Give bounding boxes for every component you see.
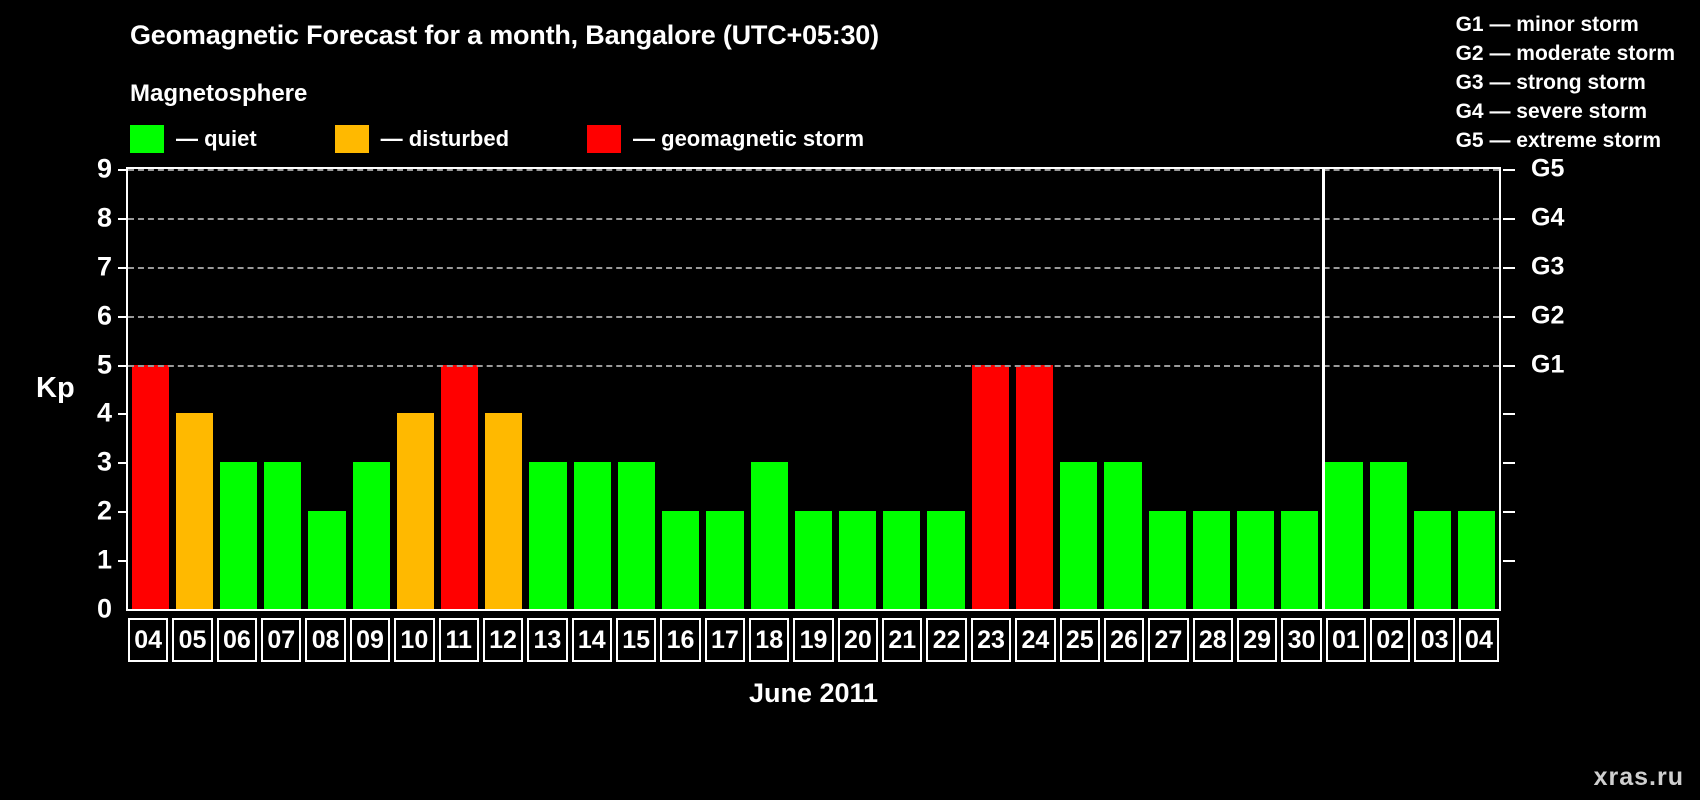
- bar[interactable]: [1060, 462, 1097, 609]
- bar-cell[interactable]: [1278, 169, 1322, 609]
- x-axis-date-label[interactable]: 11: [439, 618, 479, 662]
- x-axis-date-label[interactable]: 16: [660, 618, 700, 662]
- legend-entry: — quiet: [130, 124, 257, 154]
- bar[interactable]: [1325, 462, 1362, 609]
- bar[interactable]: [308, 511, 345, 609]
- bar-cell[interactable]: [1012, 169, 1056, 609]
- y-axis-tick-label: 6: [97, 300, 112, 331]
- bar-cell[interactable]: [1101, 169, 1145, 609]
- g-legend-line: G3 — strong storm: [1456, 68, 1675, 97]
- g-axis-tick-mark: [1503, 218, 1515, 220]
- x-axis-date-label[interactable]: 13: [527, 618, 567, 662]
- gridline: [128, 218, 1499, 220]
- bar[interactable]: [972, 365, 1009, 609]
- x-axis-date-label[interactable]: 08: [305, 618, 345, 662]
- bar-cell[interactable]: [703, 169, 747, 609]
- g-axis-tick-mark: [1503, 169, 1515, 171]
- bar[interactable]: [441, 365, 478, 609]
- x-axis-date-label[interactable]: 12: [483, 618, 523, 662]
- bar-cell[interactable]: [880, 169, 924, 609]
- x-axis-date-label[interactable]: 07: [261, 618, 301, 662]
- g-scale-legend: G1 — minor stormG2 — moderate stormG3 — …: [1456, 10, 1675, 155]
- bar[interactable]: [397, 413, 434, 609]
- legend-entry: — disturbed: [335, 124, 509, 154]
- x-axis-date-label[interactable]: 10: [394, 618, 434, 662]
- bar[interactable]: [176, 413, 213, 609]
- bar[interactable]: [618, 462, 655, 609]
- x-axis-date-label[interactable]: 15: [616, 618, 656, 662]
- bar-cell[interactable]: [1233, 169, 1277, 609]
- bar-cell[interactable]: [1366, 169, 1410, 609]
- bar-cell[interactable]: [349, 169, 393, 609]
- x-axis-date-label[interactable]: 23: [971, 618, 1011, 662]
- x-axis-date-label[interactable]: 05: [172, 618, 212, 662]
- g-axis-tick-mark: [1503, 267, 1515, 269]
- x-axis-date-label[interactable]: 04: [128, 618, 168, 662]
- x-axis-date-label[interactable]: 18: [749, 618, 789, 662]
- bar-cell[interactable]: [1057, 169, 1101, 609]
- legend-color-swatch: [130, 125, 164, 153]
- bar[interactable]: [883, 511, 920, 609]
- bar[interactable]: [795, 511, 832, 609]
- bar-series: [128, 169, 1499, 609]
- bar-cell[interactable]: [305, 169, 349, 609]
- bar-cell[interactable]: [482, 169, 526, 609]
- bar-cell[interactable]: [570, 169, 614, 609]
- x-axis-date-label[interactable]: 26: [1104, 618, 1144, 662]
- bar-cell[interactable]: [836, 169, 880, 609]
- bar[interactable]: [220, 462, 257, 609]
- x-axis-date-label[interactable]: 30: [1281, 618, 1321, 662]
- gridline: [128, 316, 1499, 318]
- bar-cell[interactable]: [614, 169, 658, 609]
- bar-cell[interactable]: [526, 169, 570, 609]
- bar-cell[interactable]: [128, 169, 172, 609]
- bar[interactable]: [1149, 511, 1186, 609]
- bar-cell[interactable]: [747, 169, 791, 609]
- g-axis-tick-mark: [1503, 462, 1515, 464]
- y-axis-tick-label: 0: [97, 594, 112, 625]
- bar[interactable]: [1237, 511, 1274, 609]
- x-axis-date-label[interactable]: 20: [838, 618, 878, 662]
- gridline: [128, 267, 1499, 269]
- bar-cell[interactable]: [1410, 169, 1454, 609]
- gridline: [128, 169, 1499, 171]
- bar-cell[interactable]: [216, 169, 260, 609]
- magnetosphere-heading: Magnetosphere: [130, 80, 307, 108]
- gridline: [128, 365, 1499, 367]
- y-axis-tick-label: 3: [97, 447, 112, 478]
- x-axis-date-label[interactable]: 03: [1414, 618, 1454, 662]
- geomagnetic-forecast-chart: Geomagnetic Forecast for a month, Bangal…: [0, 0, 1700, 800]
- bar[interactable]: [485, 413, 522, 609]
- bar[interactable]: [751, 462, 788, 609]
- x-axis-date-label[interactable]: 29: [1237, 618, 1277, 662]
- g-axis-tick-mark: [1503, 365, 1515, 367]
- bar[interactable]: [1458, 511, 1495, 609]
- x-axis-date-label[interactable]: 17: [705, 618, 745, 662]
- bar-cell[interactable]: [438, 169, 482, 609]
- bar-cell[interactable]: [172, 169, 216, 609]
- bar[interactable]: [353, 462, 390, 609]
- legend-entry: — geomagnetic storm: [587, 124, 864, 154]
- g-legend-line: G1 — minor storm: [1456, 10, 1675, 39]
- y-axis-tick-label: 7: [97, 251, 112, 282]
- bar-cell[interactable]: [1455, 169, 1499, 609]
- g-axis-scale: G1G2G3G4G5: [1503, 167, 1583, 611]
- bar[interactable]: [264, 462, 301, 609]
- x-axis-date-label[interactable]: 28: [1193, 618, 1233, 662]
- plot-inner: [128, 169, 1499, 609]
- g-legend-line: G5 — extreme storm: [1456, 126, 1675, 155]
- x-axis-date-label[interactable]: 01: [1326, 618, 1366, 662]
- legend-color-swatch: [587, 125, 621, 153]
- bar[interactable]: [1193, 511, 1230, 609]
- bar[interactable]: [839, 511, 876, 609]
- g-axis-tick-label: G2: [1531, 301, 1564, 330]
- bar[interactable]: [706, 511, 743, 609]
- legend-label: — disturbed: [381, 126, 509, 152]
- g-axis-tick-mark: [1503, 316, 1515, 318]
- magnetosphere-legend: — quiet— disturbed— geomagnetic storm: [130, 124, 864, 154]
- plot-area: [126, 167, 1501, 611]
- month-divider-line: [1322, 167, 1325, 611]
- g-axis-tick-label: G1: [1531, 350, 1564, 379]
- y-axis-title: Kp: [36, 372, 75, 405]
- x-axis-date-label[interactable]: 21: [882, 618, 922, 662]
- legend-color-swatch: [335, 125, 369, 153]
- y-axis-tick-label: 1: [97, 545, 112, 576]
- x-axis-date-label[interactable]: 04: [1459, 618, 1499, 662]
- g-axis-tick-label: G3: [1531, 252, 1564, 281]
- bar[interactable]: [1016, 365, 1053, 609]
- bar[interactable]: [529, 462, 566, 609]
- x-axis-date-label[interactable]: 22: [926, 618, 966, 662]
- bar-cell[interactable]: [393, 169, 437, 609]
- g-axis-tick-label: G5: [1531, 155, 1564, 184]
- bar-cell[interactable]: [1322, 169, 1366, 609]
- x-axis-date-labels: 0405060708091011121314151617181920212223…: [126, 618, 1501, 662]
- x-axis-date-label[interactable]: 25: [1060, 618, 1100, 662]
- bar-cell[interactable]: [261, 169, 305, 609]
- bar-cell[interactable]: [968, 169, 1012, 609]
- y-axis-tick-label: 9: [97, 154, 112, 185]
- y-axis-tick-label: 8: [97, 202, 112, 233]
- bar[interactable]: [1281, 511, 1318, 609]
- x-axis-date-label[interactable]: 19: [793, 618, 833, 662]
- y-axis-tick-label: 5: [97, 349, 112, 380]
- bar[interactable]: [1104, 462, 1141, 609]
- g-axis-tick-mark: [1503, 560, 1515, 562]
- g-axis-tick-label: G4: [1531, 203, 1564, 232]
- x-axis-date-label[interactable]: 24: [1015, 618, 1055, 662]
- x-axis-date-label[interactable]: 02: [1370, 618, 1410, 662]
- legend-label: — quiet: [176, 126, 257, 152]
- page-title: Geomagnetic Forecast for a month, Bangal…: [130, 20, 879, 51]
- y-axis-tick-label: 4: [97, 398, 112, 429]
- bar-cell[interactable]: [1189, 169, 1233, 609]
- g-axis-tick-mark: [1503, 511, 1515, 513]
- y-axis-tick-label: 2: [97, 496, 112, 527]
- bar-cell[interactable]: [791, 169, 835, 609]
- x-axis-date-label[interactable]: 14: [572, 618, 612, 662]
- g-axis-tick-mark: [1503, 413, 1515, 415]
- bar-cell[interactable]: [1145, 169, 1189, 609]
- g-legend-line: G4 — severe storm: [1456, 97, 1675, 126]
- bar[interactable]: [574, 462, 611, 609]
- bar-cell[interactable]: [659, 169, 703, 609]
- x-axis-date-label[interactable]: 09: [350, 618, 390, 662]
- bar-cell[interactable]: [924, 169, 968, 609]
- bar[interactable]: [927, 511, 964, 609]
- x-axis-date-label[interactable]: 27: [1148, 618, 1188, 662]
- bar[interactable]: [132, 365, 169, 609]
- x-axis-title: June 2011: [126, 678, 1501, 709]
- bar[interactable]: [662, 511, 699, 609]
- x-axis-date-label[interactable]: 06: [217, 618, 257, 662]
- watermark: xras.ru: [1594, 763, 1684, 792]
- bar[interactable]: [1414, 511, 1451, 609]
- legend-label: — geomagnetic storm: [633, 126, 864, 152]
- bar[interactable]: [1370, 462, 1407, 609]
- g-legend-line: G2 — moderate storm: [1456, 39, 1675, 68]
